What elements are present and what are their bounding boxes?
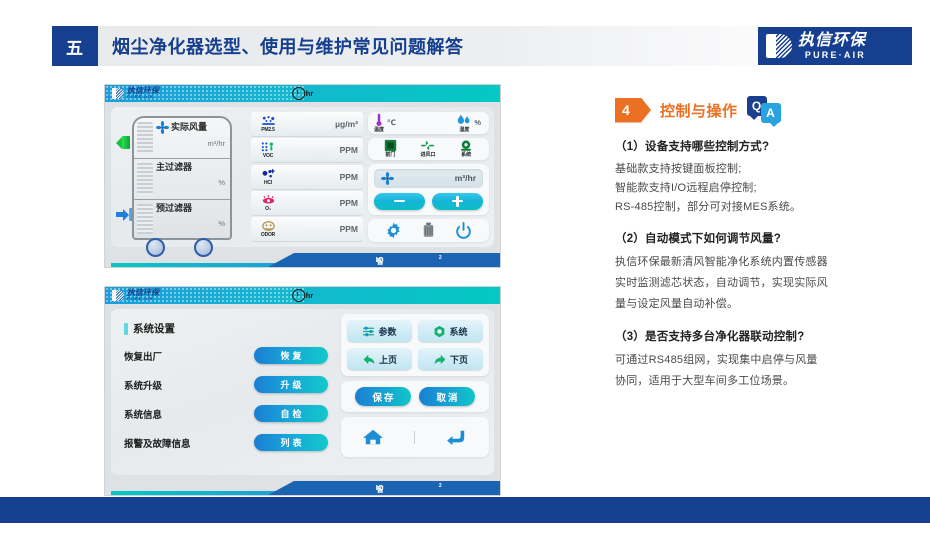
sensor-readout-list: PM2.5 µg/m³ VOC PPM <box>251 112 363 242</box>
decrease-button[interactable] <box>374 193 425 210</box>
qa-block-2: （2）自动模式下如何调节风量? 执信环保最新清风智能净化系统内置传感器 实时监测… <box>615 230 915 315</box>
qa-block-3: （3）是否支持多台净化器联动控制? 可通过RS485组网，实现集中启停与风量 协… <box>615 328 915 392</box>
temperature-icon: 温度 <box>374 113 384 133</box>
hmi2-footer: IQ2 智能控制系统 <box>268 481 500 495</box>
environment-row: 温度 ℃ 湿度 % <box>368 112 489 134</box>
voc-unit: PPM <box>280 145 358 155</box>
fan-icon <box>381 172 394 185</box>
setting-row-alarm-info[interactable]: 报警及故障信息 列表 <box>124 434 328 451</box>
machine-section-main-filter[interactable]: 主过滤器 % <box>134 159 230 200</box>
system-icon[interactable]: 系统 <box>459 139 473 158</box>
setting-row-system-info[interactable]: 系统信息 自检 <box>124 405 328 422</box>
fan-speed-field[interactable]: m³/hr <box>374 169 483 188</box>
hmi2-titlebar: 执信环保 PURE AIR hr <box>105 287 500 304</box>
system-settings-list: 系统设置 恢复出厂 恢复 系统升级 升级 系统信息 自检 报警及故障信息 列表 <box>116 314 336 470</box>
question-1: （1）设备支持哪些控制方式? <box>615 138 915 154</box>
cancel-button[interactable]: 取消 <box>419 387 475 406</box>
home-icon[interactable] <box>362 428 384 446</box>
airflow-label: 实际风量 <box>156 121 225 134</box>
sensor-row-pm25[interactable]: PM2.5 µg/m³ <box>251 112 363 137</box>
sensor-row-o3[interactable]: O₃ PPM <box>251 191 363 216</box>
odor-icon: ODOR <box>256 220 280 238</box>
main-filter-unit: % <box>156 178 225 187</box>
page-footer-bar <box>0 497 930 523</box>
machine-diagram: 实际风量 m³/hr 主过滤器 % 预过滤器 % <box>116 112 246 242</box>
logo-chinese: 执信环保 <box>798 33 866 49</box>
answer-1-line-3: RS-485控制，部分可对接MES系统。 <box>615 198 915 217</box>
filter-stripes <box>137 163 153 195</box>
control-column: 温度 ℃ 湿度 % 前门 <box>368 112 489 242</box>
humidity-unit: % <box>474 118 481 127</box>
pm25-unit: µg/m³ <box>280 119 358 129</box>
temperature-unit: ℃ <box>387 118 396 127</box>
o3-unit: PPM <box>280 198 358 208</box>
restore-button[interactable]: 恢复 <box>254 347 328 364</box>
sensor-row-hcl[interactable]: HCl PPM <box>251 165 363 190</box>
answer-1-line-2: 智能款支持I/O远程启停控制; <box>615 179 915 198</box>
purifier-body: 实际风量 m³/hr 主过滤器 % 预过滤器 % <box>132 116 232 240</box>
prev-page-button[interactable]: 上页 <box>347 348 412 370</box>
filter-stripes <box>137 122 153 154</box>
fan-icon <box>156 121 169 134</box>
odor-unit: PPM <box>280 224 358 234</box>
arrow-left-icon <box>362 353 376 366</box>
home-back-group <box>341 417 489 457</box>
setting-row-upgrade[interactable]: 系统升级 升级 <box>124 376 328 393</box>
hmi2-logo: 执信环保 PURE AIR <box>111 288 159 303</box>
arrow-right-icon <box>433 353 447 366</box>
hmi1-logo-en: PURE AIR <box>127 95 159 100</box>
hmi1-hour-indicator: hr <box>292 87 314 100</box>
hmi2-hour-indicator: hr <box>292 289 314 302</box>
power-icon[interactable] <box>454 221 473 240</box>
hmi-panel-settings[interactable]: 执信环保 PURE AIR hr 系统设置 恢复出厂 恢复 系统升级 升级 系 <box>105 287 500 495</box>
answer-2-line-3: 量与设定风量自动补偿。 <box>615 294 915 315</box>
filter-stripes <box>137 204 153 234</box>
caster-wheel-icon <box>146 238 165 257</box>
fan-speed-control: m³/hr <box>368 164 489 215</box>
machine-section-pre-filter[interactable]: 预过滤器 % <box>134 200 230 238</box>
answer-3-line-1: 可通过RS485组网，实现集中启停与风量 <box>615 350 915 371</box>
hmi1-footer: IQ2 智能控制系统 <box>268 253 500 267</box>
caster-wheel-icon <box>194 238 213 257</box>
system-button[interactable]: 系统 <box>418 320 483 342</box>
answer-1-line-1: 基础款支持按键面板控制; <box>615 160 915 179</box>
humidity-icon: 湿度 <box>457 113 471 133</box>
question-3: （3）是否支持多台净化器联动控制? <box>615 328 915 344</box>
logo-english: PURE·AIR <box>798 51 866 60</box>
answer-3-line-2: 协同，适用于大型车间多工位场景。 <box>615 371 915 392</box>
pm25-icon: PM2.5 <box>256 115 280 133</box>
self-check-button[interactable]: 自检 <box>254 405 328 422</box>
hmi1-logo: 执信环保 PURE AIR <box>111 86 159 101</box>
clock-icon <box>292 87 305 100</box>
pre-filter-label: 预过滤器 <box>156 203 225 214</box>
air-outlet-arrow-icon <box>116 136 130 149</box>
fan-speed-unit: m³/hr <box>394 173 476 183</box>
params-button[interactable]: 参数 <box>347 320 412 342</box>
page-title: 烟尘净化器选型、使用与维护常见问题解答 <box>112 26 464 66</box>
hcl-unit: PPM <box>280 172 358 182</box>
setting-row-factory-reset[interactable]: 恢复出厂 恢复 <box>124 347 328 364</box>
pre-filter-unit: % <box>156 219 225 228</box>
hmi2-logo-en: PURE AIR <box>127 297 159 302</box>
gear-icon[interactable] <box>384 221 403 240</box>
save-button[interactable]: 保存 <box>355 387 411 406</box>
nav-button-group: 参数 系统 上页 <box>341 314 489 376</box>
sensor-row-voc[interactable]: VOC PPM <box>251 138 363 163</box>
increase-button[interactable] <box>432 193 483 210</box>
qa-block-1: （1）设备支持哪些控制方式? 基础款支持按键面板控制; 智能款支持I/O远程启停… <box>615 138 915 217</box>
filter-icon[interactable] <box>419 221 438 240</box>
section-number-badge: 五 <box>52 26 98 66</box>
air-inlet-icon[interactable]: 进风口 <box>420 139 435 158</box>
hmi2-hour-label: hr <box>306 291 314 300</box>
upgrade-button[interactable]: 升级 <box>254 376 328 393</box>
hmi2-body: 系统设置 恢复出厂 恢复 系统升级 升级 系统信息 自检 报警及故障信息 列表 <box>111 309 494 475</box>
clock-icon <box>292 289 305 302</box>
hexagon-gear-icon <box>433 325 446 338</box>
page-header: 五 烟尘净化器选型、使用与维护常见问题解答 执信环保 PURE·AIR <box>0 26 930 66</box>
logo-mark-icon <box>764 32 794 60</box>
list-button[interactable]: 列表 <box>254 434 328 451</box>
settings-title: 系统设置 <box>124 321 328 336</box>
sensor-row-odor[interactable]: ODOR PPM <box>251 217 363 242</box>
qa-bubble-icon: Q A <box>747 96 781 124</box>
machine-section-airflow[interactable]: 实际风量 m³/hr <box>134 118 230 159</box>
hmi1-titlebar: 执信环保 PURE AIR hr <box>105 85 500 102</box>
divider <box>414 431 415 444</box>
airflow-unit: m³/hr <box>156 139 225 148</box>
company-logo: 执信环保 PURE·AIR <box>758 27 912 65</box>
hmi-panel-monitor[interactable]: 执信环保 PURE AIR hr <box>105 85 500 267</box>
hmi1-hour-label: hr <box>306 89 314 98</box>
voc-icon: VOC <box>256 141 280 159</box>
section-title: 控制与操作 <box>660 100 738 121</box>
back-arrow-icon[interactable] <box>446 428 468 446</box>
section-number-chevron: 4 <box>615 98 651 123</box>
question-2: （2）自动模式下如何调节风量? <box>615 230 915 246</box>
action-icon-row <box>368 219 489 242</box>
o3-icon: O₃ <box>256 194 280 212</box>
hcl-icon: HCl <box>256 168 280 186</box>
answer-bubble: A <box>761 103 781 123</box>
hmi1-body: 实际风量 m³/hr 主过滤器 % 预过滤器 % <box>111 107 494 247</box>
next-page-button[interactable]: 下页 <box>418 348 483 370</box>
main-filter-label: 主过滤器 <box>156 162 225 173</box>
sliders-icon <box>362 325 375 338</box>
save-cancel-group: 保存 取消 <box>341 381 489 412</box>
answer-2-line-1: 执信环保最新清风智能净化系统内置传感器 <box>615 252 915 273</box>
answer-2-line-2: 实时监测滤芯状态，自动调节，实现实际风 <box>615 273 915 294</box>
hmi2-control-column: 参数 系统 上页 <box>341 314 489 470</box>
status-row: 前门 进风口 系统 <box>368 138 489 160</box>
content-column: 4 控制与操作 Q A （1）设备支持哪些控制方式? 基础款支持按键面板控制; … <box>615 96 915 405</box>
section-heading: 4 控制与操作 Q A <box>615 96 915 124</box>
front-door-icon[interactable]: 前门 <box>384 139 397 158</box>
